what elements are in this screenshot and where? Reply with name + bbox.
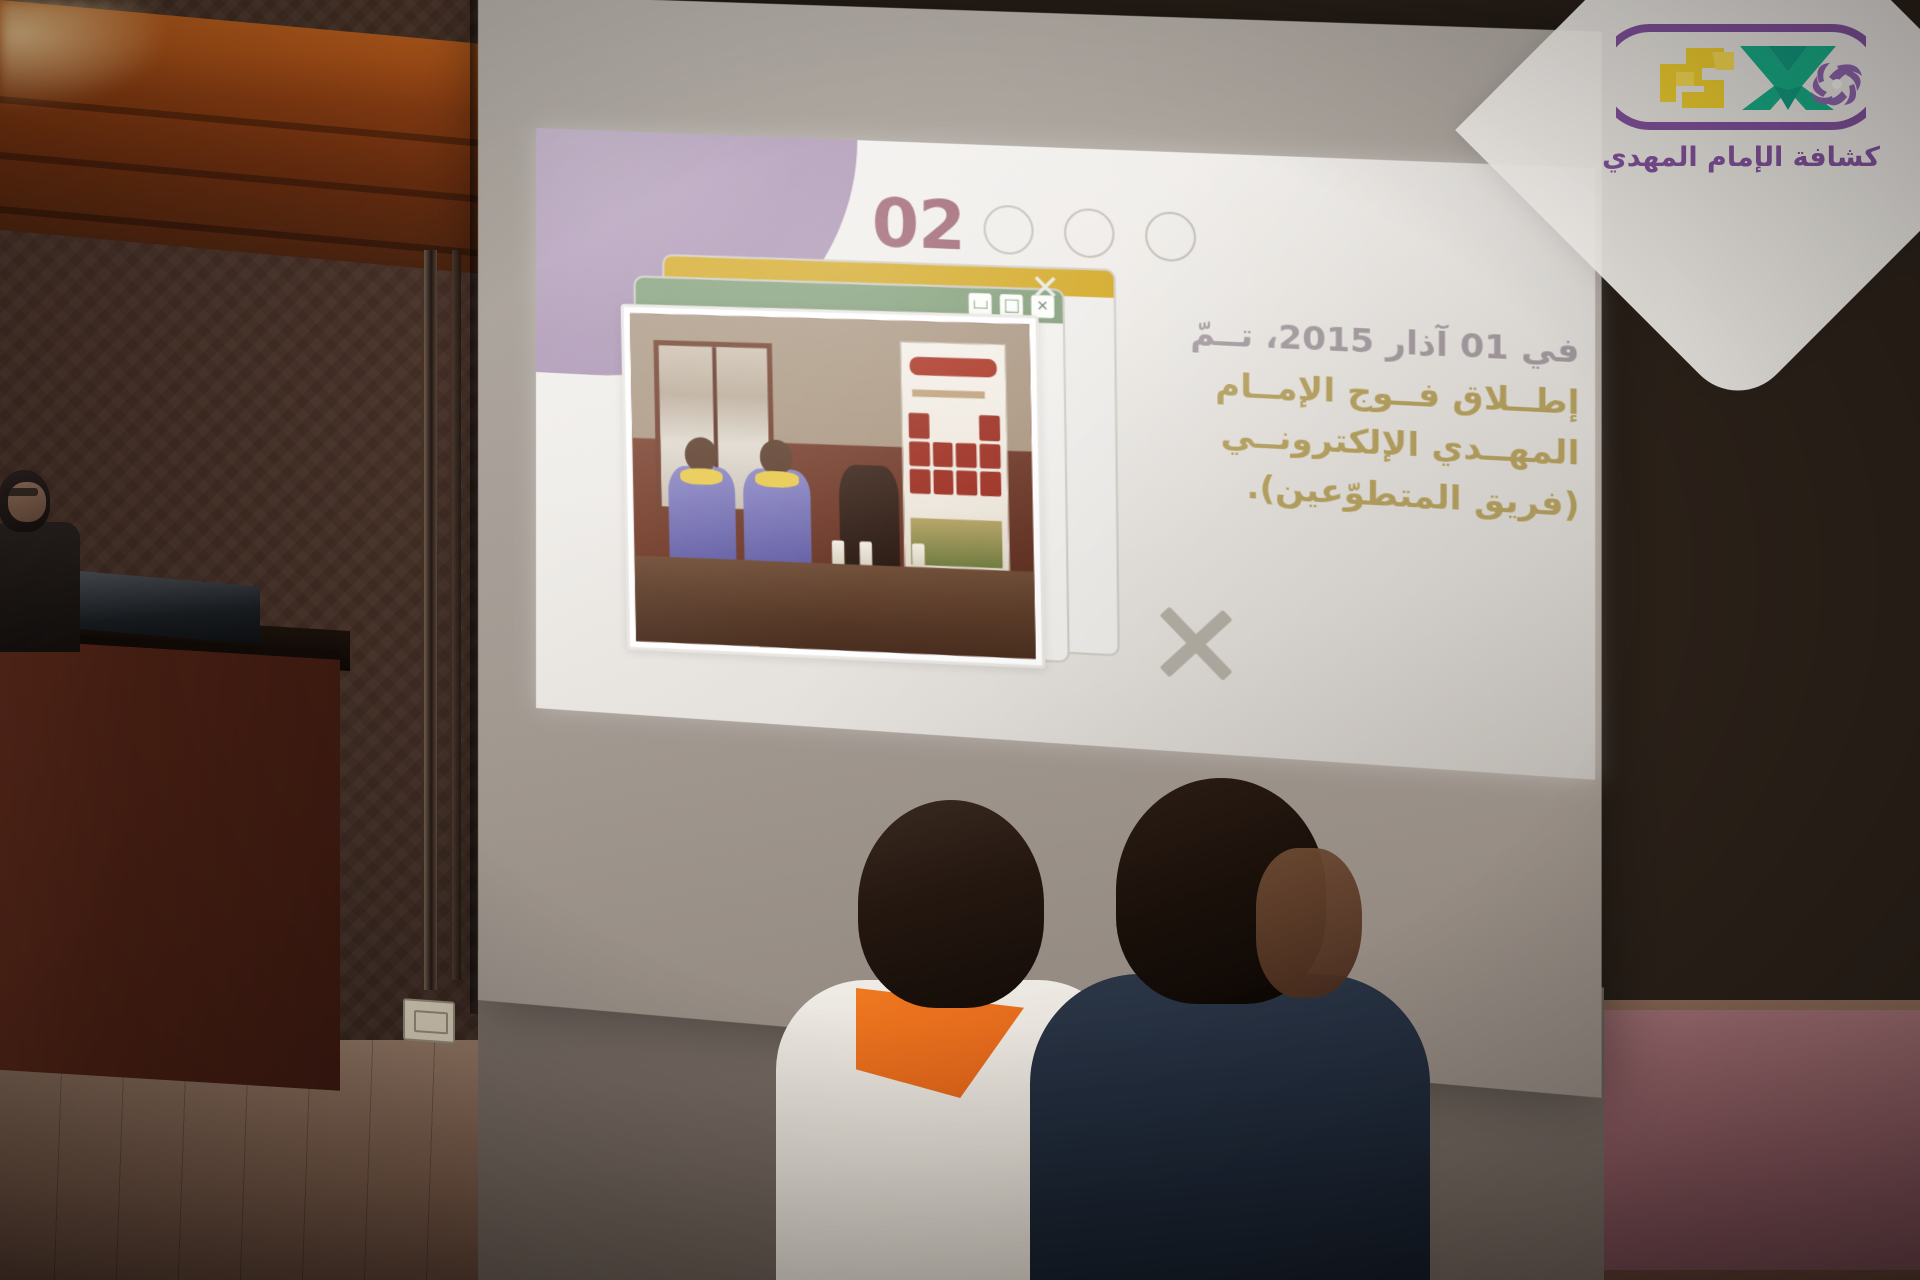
audience-member-right: [1080, 778, 1410, 1280]
audience-right-head: [1116, 778, 1326, 1004]
photo-conference-table: [634, 556, 1035, 659]
presentation-slide: 02 ✕ ✕: [536, 128, 1595, 780]
poster-cell: [955, 415, 976, 441]
ceiling-light-glow: [0, 0, 170, 110]
slide-section-number: 02: [872, 183, 965, 265]
embedded-event-photo: [630, 313, 1036, 659]
poster-header-band: [910, 356, 997, 378]
wall-outlet: [403, 998, 455, 1044]
poster-subtitle-band: [912, 389, 984, 398]
poster-cell: [909, 441, 930, 467]
presenter-head: [0, 470, 50, 532]
poster-cell: [933, 470, 954, 496]
photo-frame-window: [621, 304, 1046, 669]
poster-badge-grid: [909, 413, 1001, 497]
logo-organization-name: كشافة الإمام المهدي: [1602, 142, 1880, 173]
imam-mahdi-scouts-logo-icon: [1616, 18, 1866, 136]
photo-scout-person: [743, 468, 812, 570]
poster-cell: [980, 443, 1001, 469]
glasses-icon: [4, 488, 38, 496]
progress-dot: [984, 204, 1034, 255]
poster-cell: [933, 442, 954, 468]
photo-person-scarf: [755, 470, 799, 487]
poster-cell: [980, 471, 1001, 497]
presenter-body: [0, 522, 80, 652]
photo-scout-person: [668, 465, 737, 566]
poster-cell: [909, 413, 930, 439]
audience-front-head: [858, 800, 1044, 1008]
presenter: [0, 470, 84, 650]
poster-cell: [979, 415, 1000, 441]
audience-right-face: [1256, 848, 1362, 998]
slide-progress-dots: [984, 204, 1196, 262]
photo-scene: 02 ✕ ✕: [0, 0, 1920, 1280]
poster-cell: [957, 471, 978, 497]
poster-cell: [910, 469, 931, 495]
podium: [0, 629, 340, 1090]
slide-body-text: في 01 آذار 2015، تــمّ إطــلاق فــوج الإ…: [1116, 304, 1580, 530]
screen-support-pole-secondary: [452, 250, 461, 980]
close-badge-icon: ✕: [1030, 267, 1060, 309]
photo-person-head: [760, 439, 793, 476]
projected-slide-area: 02 ✕ ✕: [536, 128, 1595, 780]
decorative-x-icon: [1151, 595, 1240, 687]
poster-cell: [932, 414, 953, 440]
progress-dot: [1145, 211, 1196, 263]
poster-cell: [956, 443, 977, 469]
logo-watermark: كشافة الإمام المهدي: [1576, 18, 1906, 218]
photo-person-scarf: [680, 468, 723, 485]
screen-support-pole: [424, 250, 437, 990]
audience-right-body: [1030, 974, 1430, 1280]
progress-dot: [1064, 208, 1114, 259]
